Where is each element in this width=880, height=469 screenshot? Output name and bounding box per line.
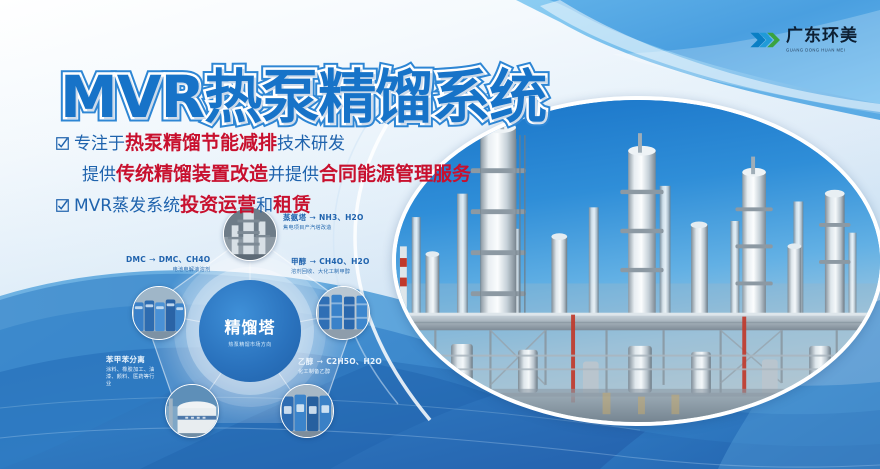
distillation-market-diagram: 精馏塔 热泵精馏市场方向 [95,208,405,423]
brand-name-cn: 广东环美 [786,28,858,45]
bullet-2-seg-3: 并提供 [268,160,319,190]
chevron-arrows-logo-icon [748,29,780,51]
bullet-2-seg-2: 传统精馏装置改造 [116,159,268,189]
diagram-label-benzene-toluene: 苯甲苯分离 涂料、橡胶加工、油漆、颜料、医药等行业 [106,354,158,388]
diagram-node-ethanol[interactable] [280,384,334,438]
label-ammonia-desc: 焦电项目产汽塔改造 [283,225,364,232]
label-benzene-desc: 涂料、橡胶加工、油漆、颜料、医药等行业 [106,367,158,388]
bullet-2-seg-4: 合同能源管理服务 [319,159,471,189]
diagram-label-ethanol: 乙醇→C2H5O、H2O 化工制备乙醇 [298,356,382,376]
diagram-node-methanol[interactable] [316,286,370,340]
label-methanol-title-row: 甲醇→CH4O、H2O [291,256,370,267]
diagram-node-dmc[interactable] [132,286,186,340]
label-ethanol-title: 乙醇 [298,357,314,366]
bullet-3-seg-2: 投资运营 [180,190,256,220]
bullet-2-seg-1: 提供 [82,160,116,190]
label-methanol-arrow: → [307,257,320,266]
brand-name-pinyin: GUANG DONG HUAN MEI [786,48,858,53]
label-dmc-title: DMC [126,255,146,264]
diagram-label-methanol: 甲醇→CH4O、H2O 溶剂回收、大化工制甲醇 [291,256,370,276]
bullet-3-seg-3: 和 [256,191,273,221]
label-ethanol-formula: C2H5O、H2O [326,357,382,366]
bullet-3-seg-4: 租赁 [273,190,311,220]
label-methanol-formula: CH4O、H2O [319,257,369,266]
diagram-core-title: 精馏塔 [224,314,275,338]
label-dmc-formula: DMC、CH4O [159,255,211,264]
checkbox-checked-icon [56,199,69,212]
blue-drums-photo-icon [317,287,369,339]
label-ethanol-desc: 化工制备乙醇 [298,369,382,376]
label-dmc-desc: 电池电解液溶剂 [126,267,210,274]
label-dmc-arrow: → [146,255,159,264]
blue-barrels-photo-icon [281,385,333,437]
checkbox-checked-icon [56,137,69,150]
bullet-1-seg-3: 技术研发 [277,129,345,159]
label-ethanol-arrow: → [314,357,327,366]
page-title: MVR热泵精馏系统 [60,50,546,134]
poster-canvas: 广东环美 GUANG DONG HUAN MEI [0,0,880,469]
diagram-core-subtitle: 热泵精馏市场方向 [228,341,271,348]
bullet-3-seg-1: MVR蒸发系统 [74,191,180,221]
label-ethanol-title-row: 乙醇→C2H5O、H2O [298,356,382,367]
diagram-node-benzene-toluene[interactable] [165,384,219,438]
bullet-line-2: 提供 传统精馏装置改造 并提供 合同能源管理服务 [56,159,576,190]
label-methanol-desc: 溶剂回收、大化工制甲醇 [291,269,370,276]
diagram-label-dmc: DMC→DMC、CH4O 电池电解液溶剂 [126,254,210,274]
bullet-1-seg-2: 热泵精馏节能减排 [125,128,277,158]
bullet-1-seg-1: 专注于 [74,129,125,159]
bullet-line-1: 专注于 热泵精馏节能减排 技术研发 [56,128,576,159]
feature-bullet-list: 专注于 热泵精馏节能减排 技术研发 提供 传统精馏装置改造 并提供 合同能源管理… [56,128,576,221]
brand-logo[interactable]: 广东环美 GUANG DONG HUAN MEI [748,28,858,52]
label-methanol-title: 甲醇 [291,257,307,266]
bullet-line-3: MVR蒸发系统 投资运营 和 租赁 [56,190,576,221]
label-benzene-title: 苯甲苯分离 [106,354,158,365]
storage-tank-photo-icon [166,385,218,437]
blue-tanks-photo-icon [133,287,185,339]
diagram-core: 精馏塔 热泵精馏市场方向 [199,280,301,382]
label-dmc-title-row: DMC→DMC、CH4O [126,254,210,265]
